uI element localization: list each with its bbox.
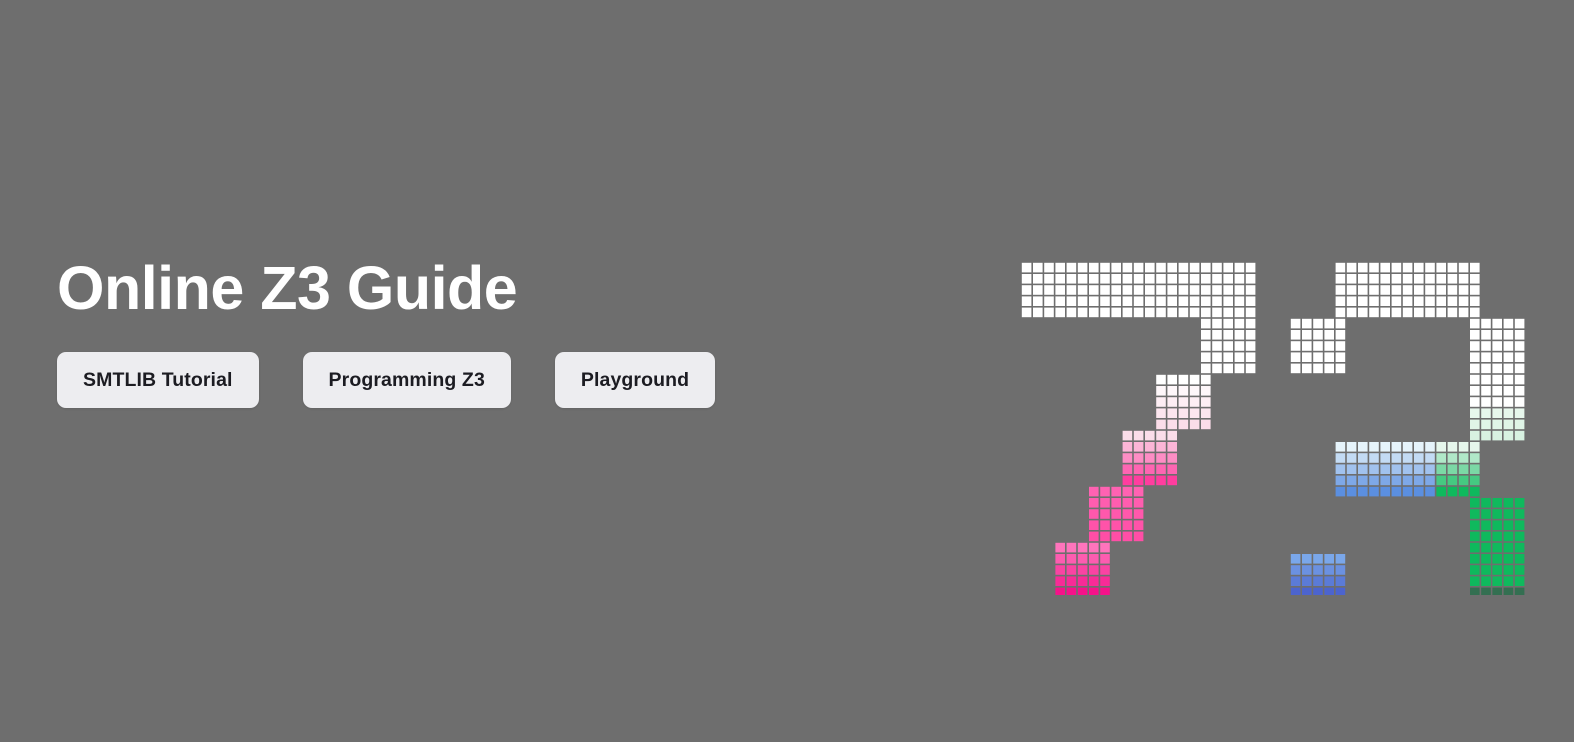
z3-pixel-logo bbox=[1000, 250, 1530, 595]
playground-button[interactable]: Playground bbox=[555, 352, 715, 408]
hero-button-row: SMTLIB Tutorial Programming Z3 Playgroun… bbox=[57, 352, 957, 408]
programming-z3-button[interactable]: Programming Z3 bbox=[303, 352, 511, 408]
smtlib-tutorial-button[interactable]: SMTLIB Tutorial bbox=[57, 352, 259, 408]
hero-content: Online Z3 Guide SMTLIB Tutorial Programm… bbox=[57, 258, 957, 408]
hero-section: Online Z3 Guide SMTLIB Tutorial Programm… bbox=[0, 0, 1574, 742]
page-title: Online Z3 Guide bbox=[57, 258, 957, 319]
